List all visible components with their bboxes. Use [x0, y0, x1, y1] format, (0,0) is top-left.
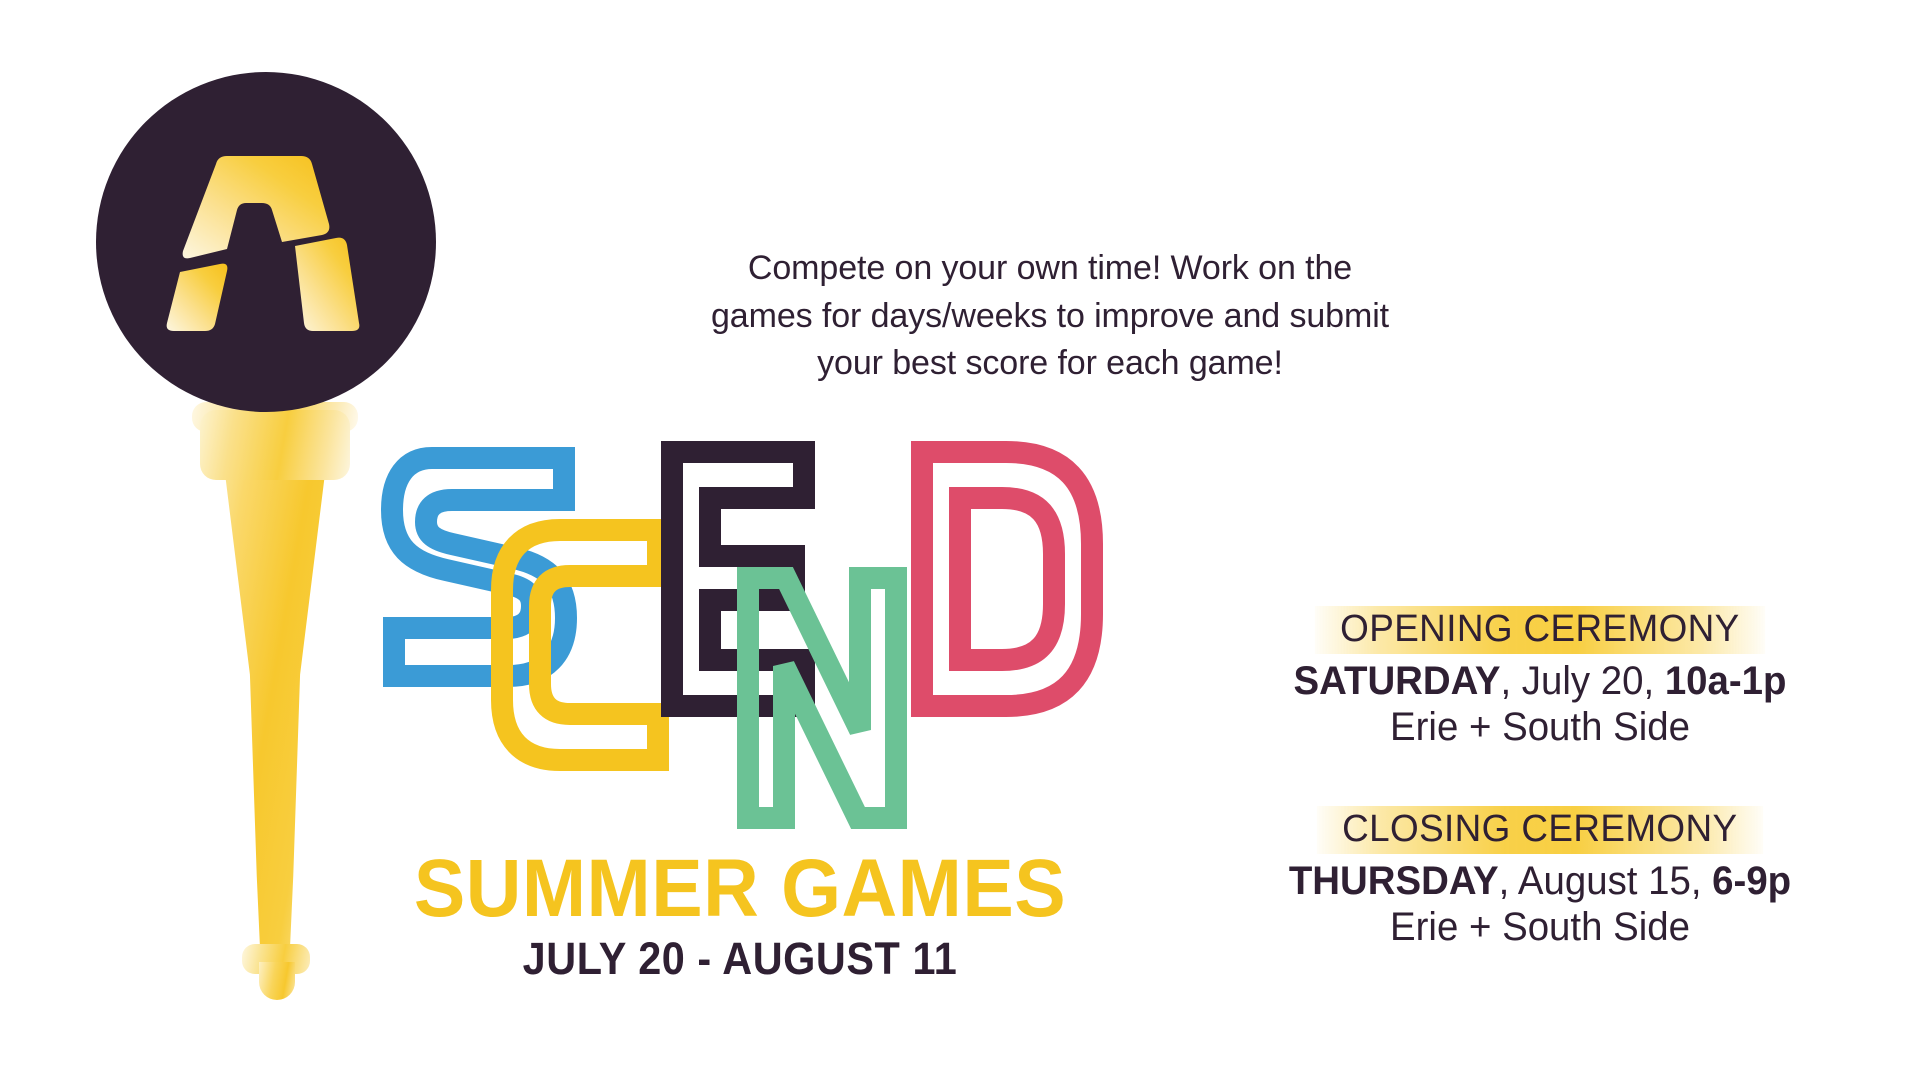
ceremonies-panel: OPENING CEREMONY SATURDAY, July 20, 10a-…: [1200, 606, 1880, 951]
intro-paragraph: Compete on your own time! Work on the ga…: [620, 245, 1480, 388]
ceremony-closing-time: 6-9p: [1712, 859, 1791, 903]
ceremony-closing-date: , August 15,: [1499, 859, 1712, 903]
a-top-stroke: [183, 156, 330, 258]
event-title: SUMMER GAMES: [392, 848, 1088, 930]
ceremony-opening-when: SATURDAY, July 20, 10a-1p: [1214, 658, 1867, 705]
ceremony-closing-when: THURSDAY, August 15, 6-9p: [1214, 858, 1867, 905]
torch-knob: [259, 962, 295, 1000]
scend-wordmark: [380, 438, 1110, 838]
torch-handle: [218, 417, 332, 977]
ceremony-closing-location: Erie + South Side: [1214, 905, 1867, 951]
ascend-a-monogram-icon: [96, 72, 436, 412]
ceremony-closing-day: THURSDAY: [1289, 859, 1499, 903]
ceremony-opening-time: 10a-1p: [1665, 659, 1787, 703]
ceremony-opening-day: SATURDAY: [1293, 659, 1500, 703]
ceremony-closing: CLOSING CEREMONY THURSDAY, August 15, 6-…: [1200, 806, 1880, 950]
event-dates: JULY 20 - AUGUST 11: [400, 936, 1081, 981]
ceremony-opening-date: , July 20,: [1500, 659, 1664, 703]
wordmark-letter-d: [922, 452, 1092, 706]
ceremony-opening-title: OPENING CEREMONY: [1315, 606, 1765, 654]
a-right-leg: [295, 238, 359, 331]
ceremony-opening: OPENING CEREMONY SATURDAY, July 20, 10a-…: [1200, 606, 1880, 750]
intro-line-1: Compete on your own time! Work on the: [620, 245, 1480, 293]
poster-canvas: Compete on your own time! Work on the ga…: [0, 0, 1920, 1080]
intro-line-3: your best score for each game!: [620, 340, 1480, 388]
ceremony-opening-location: Erie + South Side: [1214, 705, 1867, 751]
torch-collar: [200, 410, 350, 480]
a-left-leg: [167, 264, 228, 331]
ceremony-closing-title: CLOSING CEREMONY: [1317, 806, 1763, 854]
ascend-logo-circle: [96, 72, 436, 412]
scend-letters-svg: [380, 438, 1110, 838]
intro-line-2: games for days/weeks to improve and subm…: [620, 293, 1480, 341]
